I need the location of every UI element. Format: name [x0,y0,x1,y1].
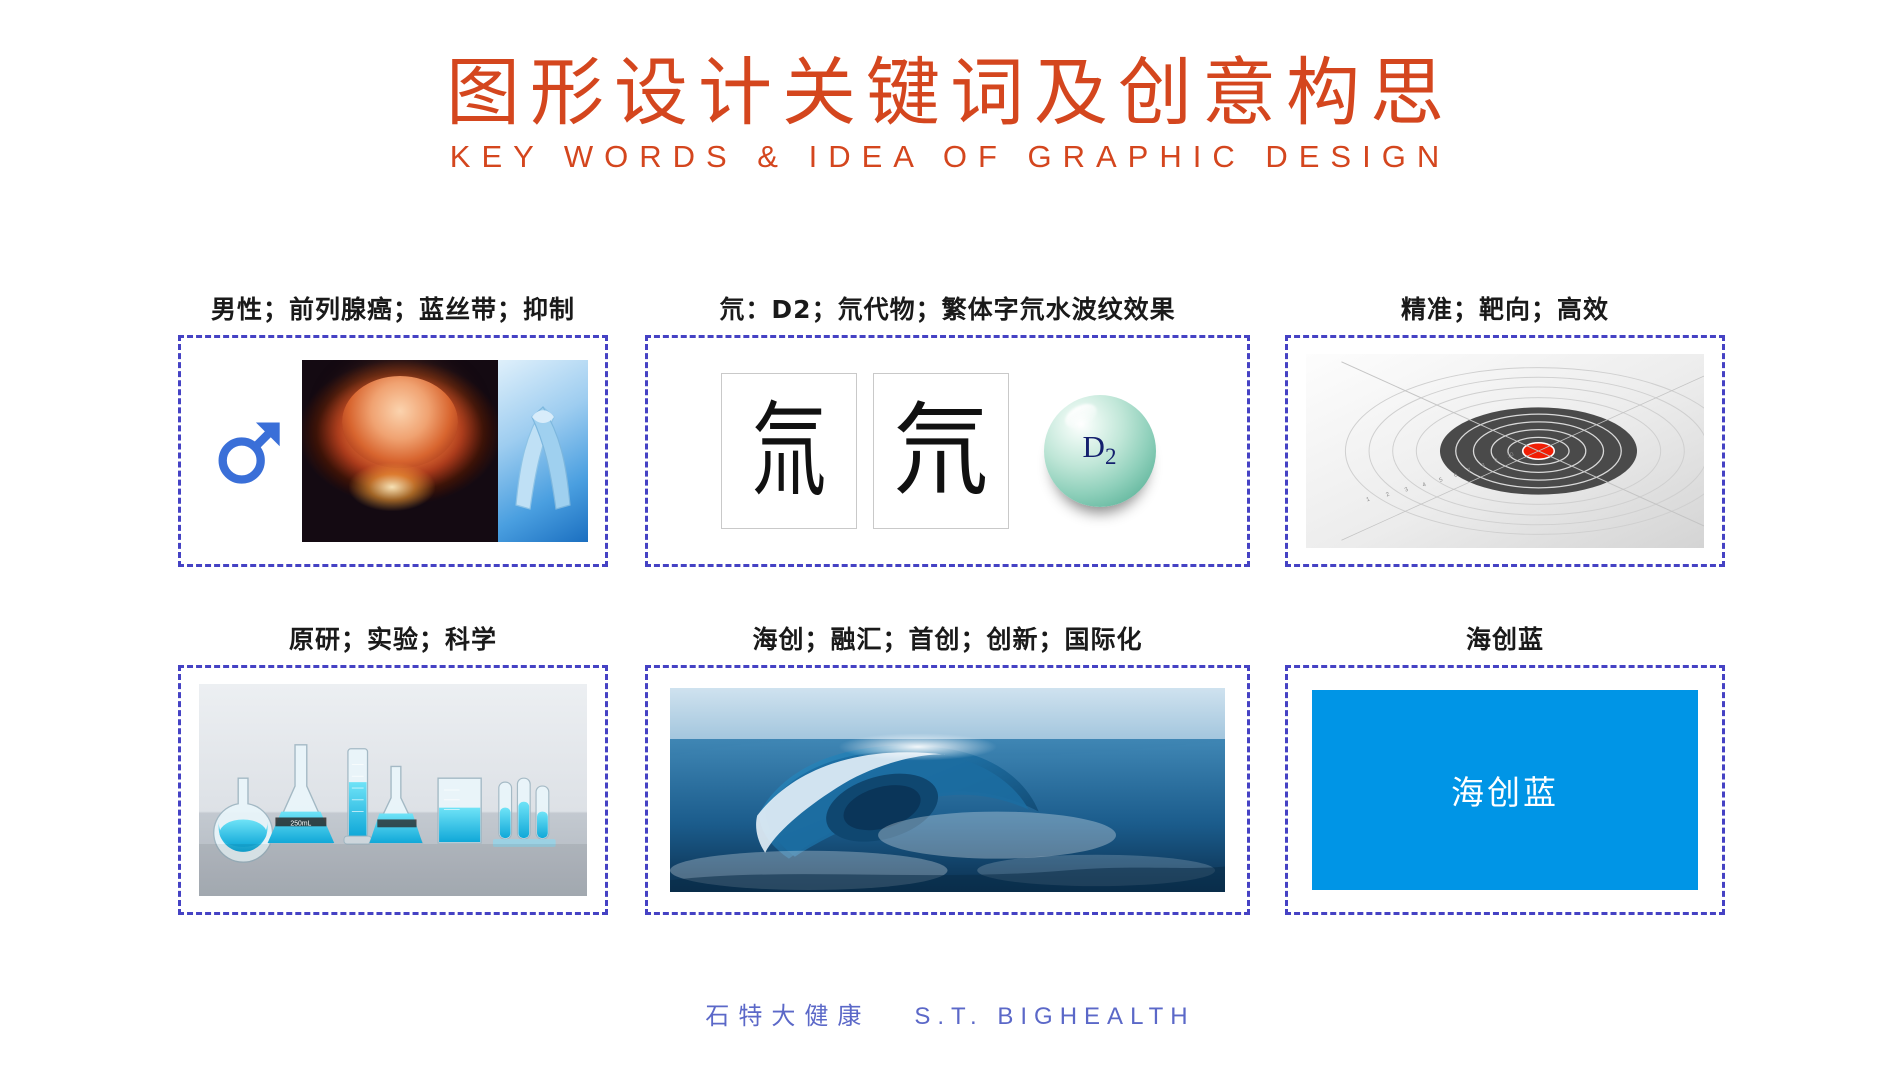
shooting-target-photo: 1 2 3 4 5 6 7 8 9 10 [1306,354,1704,548]
seal-script-glyph-water-image: 氚 [721,373,857,529]
card-frame: 氚 氘 D2 [645,335,1250,567]
footer-brand-cn: 石特大健康 [705,996,870,1031]
slide-root: 图形设计关键词及创意构思 KEY WORDS & IDEA OF GRAPHIC… [0,0,1900,1075]
brand-blue-swatch-label: 海创蓝 [1451,766,1559,814]
deuterium-sphere-image: D2 [1025,395,1175,507]
seal-glyph-text: 氘 [893,400,989,502]
card-frame [178,335,608,567]
card-innovation-keywords[interactable]: 海创；融汇；首创；创新；国际化 [645,620,1250,915]
card-label: 海创蓝 [1285,620,1725,656]
male-gender-symbol-icon [198,360,302,542]
svg-text:250mL: 250mL [290,820,311,827]
sphere-body: D2 [1044,395,1156,507]
card-targeting-keywords[interactable]: 精准；靶向；高效 [1285,290,1725,567]
blue-ribbon-photo [498,360,588,542]
card-frame: 海创蓝 [1285,665,1725,915]
footer-brand-en: S.T. BIGHEALTH [914,1003,1194,1031]
slide-footer: 石特大健康 S.T. BIGHEALTH [0,996,1900,1031]
card-label: 精准；靶向；高效 [1285,290,1725,326]
card-label: 男性；前列腺癌；蓝丝带；抑制 [178,290,608,326]
card-brand-blue[interactable]: 海创蓝 海创蓝 [1285,620,1725,915]
page-title-en: KEY WORDS & IDEA OF GRAPHIC DESIGN [0,139,1900,175]
card-frame [645,665,1250,915]
card-research-keywords[interactable]: 原研；实验；科学 [178,620,608,915]
brand-blue-swatch: 海创蓝 [1312,690,1698,890]
laboratory-glassware-photo: 250mL [199,684,587,896]
card-label: 海创；融汇；首创；创新；国际化 [645,620,1250,656]
card-frame: 1 2 3 4 5 6 7 8 9 10 [1285,335,1725,567]
card-frame: 250mL [178,665,608,915]
card-prostate-keywords[interactable]: 男性；前列腺癌；蓝丝带；抑制 [178,290,608,567]
slide-header: 图形设计关键词及创意构思 KEY WORDS & IDEA OF GRAPHIC… [0,52,1900,175]
seal-glyph-text: 氚 [751,399,826,503]
card-deuterium-keywords[interactable]: 氘：D2；氘代物；繁体字氘水波纹效果 氚 氘 D2 [645,290,1250,567]
page-title-cn: 图形设计关键词及创意构思 [0,52,1900,135]
card-label: 氘：D2；氘代物；繁体字氘水波纹效果 [645,290,1250,326]
prostate-anatomy-photo [302,360,498,542]
media-row: 氚 氘 D2 [672,360,1223,542]
card-label: 原研；实验；科学 [178,620,608,656]
sphere-label: D2 [1083,429,1117,470]
seal-script-glyph-deuterium-image: 氘 [873,373,1009,529]
ocean-wave-photo [670,688,1225,892]
media-row [205,360,581,542]
